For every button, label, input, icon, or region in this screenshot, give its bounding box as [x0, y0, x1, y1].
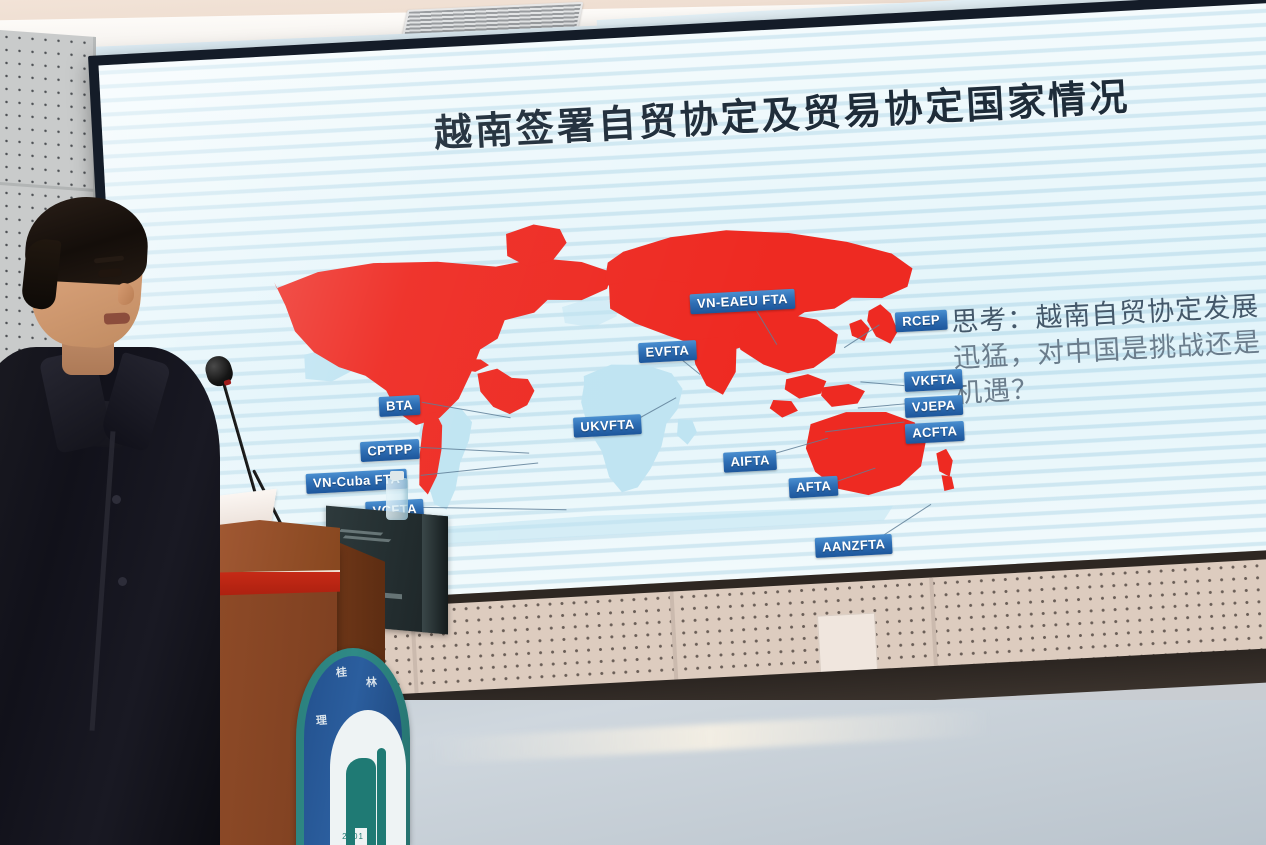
fta-label-aanzfta[interactable]: AANZFTA	[815, 534, 893, 558]
presenter	[0, 195, 230, 845]
fta-label-evfta[interactable]: EVFTA	[638, 340, 697, 363]
fta-label-ukvfta[interactable]: UKVFTA	[573, 414, 642, 438]
fta-label-afta[interactable]: AFTA	[788, 476, 838, 499]
bottle-cap	[390, 471, 404, 480]
fta-label-acfta[interactable]: ACFTA	[905, 421, 965, 444]
emblem-gate-glyph-icon	[346, 744, 390, 845]
console-side	[422, 514, 448, 634]
world-map	[237, 190, 974, 558]
water-bottle[interactable]	[386, 478, 408, 520]
emblem-char-1: 桂	[335, 664, 347, 681]
fta-label-vkfta[interactable]: VKFTA	[904, 369, 963, 392]
emblem-year: 2001	[296, 832, 410, 841]
fta-label-bta[interactable]: BTA	[379, 395, 421, 417]
jacket-button	[112, 495, 121, 504]
console-marking	[343, 535, 392, 542]
fta-label-rcep[interactable]: RCEP	[895, 310, 948, 333]
presenter-mouth	[104, 312, 131, 324]
slide-discussion-note: 思考：越南自贸协定发展 迅猛，对中国是挑战还是 机遇？	[950, 288, 1266, 412]
emblem-char-2: 林	[365, 674, 377, 691]
slide-title: 越南签署自贸协定及贸易协定国家情况	[401, 64, 1163, 159]
university-emblem: 桂 林 理 工 2001	[296, 648, 410, 845]
jacket-button	[118, 577, 127, 586]
presentation-scene: 越南签署自贸协定及贸易协定国家情况 思考：越南自贸协定发展 迅猛，对中国是挑战还…	[0, 0, 1266, 845]
fta-label-vjepa[interactable]: VJEPA	[904, 395, 963, 418]
emblem-char-3: 理	[315, 712, 327, 729]
fta-label-aifta[interactable]: AIFTA	[723, 450, 777, 473]
fta-label-cptpp[interactable]: CPTPP	[360, 439, 420, 462]
